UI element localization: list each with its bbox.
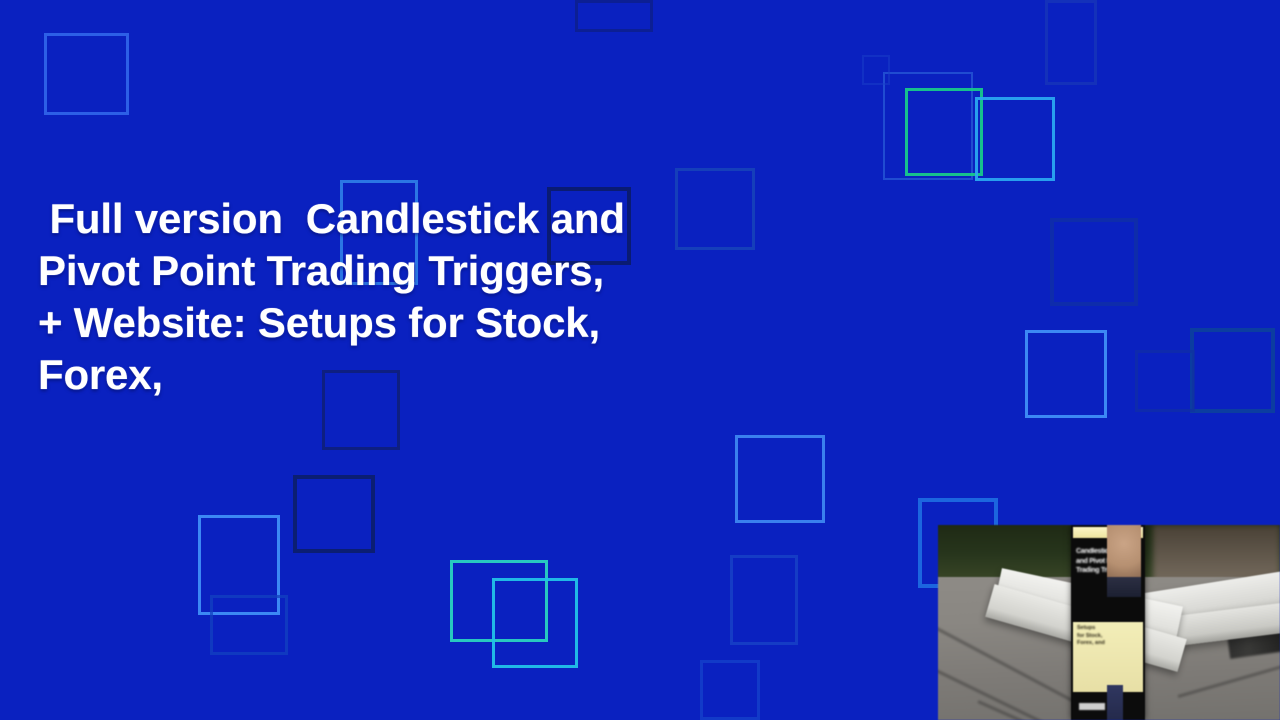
decor-square [700, 660, 760, 720]
decor-square [975, 97, 1055, 181]
cover-lower-yellow-panel: Setups for Stock, Forex, and [1073, 622, 1143, 694]
decor-square [44, 33, 129, 115]
title-line-3: + Website: Setups for Stock, [38, 297, 778, 349]
decor-square [1135, 350, 1195, 412]
decor-square [862, 55, 890, 85]
decor-square [492, 578, 578, 668]
decor-square [730, 555, 798, 645]
decor-square [210, 595, 288, 655]
title-line-1: Full version Candlestick and [38, 193, 778, 245]
decor-square [293, 475, 375, 553]
decor-square [450, 560, 548, 642]
decor-square [1025, 330, 1107, 418]
cover-subtitle-line-3: Forex, and [1077, 640, 1111, 648]
decor-square [575, 0, 653, 32]
cover-subtitle-text: Setups for Stock, Forex, and [1077, 625, 1111, 648]
decor-square [1190, 328, 1275, 413]
decor-square [905, 88, 983, 176]
decor-square [735, 435, 825, 523]
title-block: Full version Candlestick and Pivot Point… [38, 193, 778, 401]
cover-author-suit [1107, 577, 1141, 597]
decor-square [198, 515, 280, 615]
book-cover-photo: Candlestick and Pivot Point Trading Trig… [938, 525, 1280, 720]
decor-square [883, 72, 973, 180]
cover-publisher-mark [1079, 703, 1105, 710]
title-line-4: Forex, [38, 349, 778, 401]
decor-square [1045, 0, 1097, 85]
cover-author-tie [1107, 685, 1123, 720]
cover-subtitle-line-2: for Stock, [1077, 633, 1111, 641]
standing-book-cover: Candlestick and Pivot Point Trading Trig… [1071, 525, 1145, 720]
promo-slide: Full version Candlestick and Pivot Point… [0, 0, 1280, 720]
decor-square [1050, 218, 1138, 306]
title-line-2: Pivot Point Trading Triggers, [38, 245, 778, 297]
cover-subtitle-line-1: Setups [1077, 625, 1111, 633]
